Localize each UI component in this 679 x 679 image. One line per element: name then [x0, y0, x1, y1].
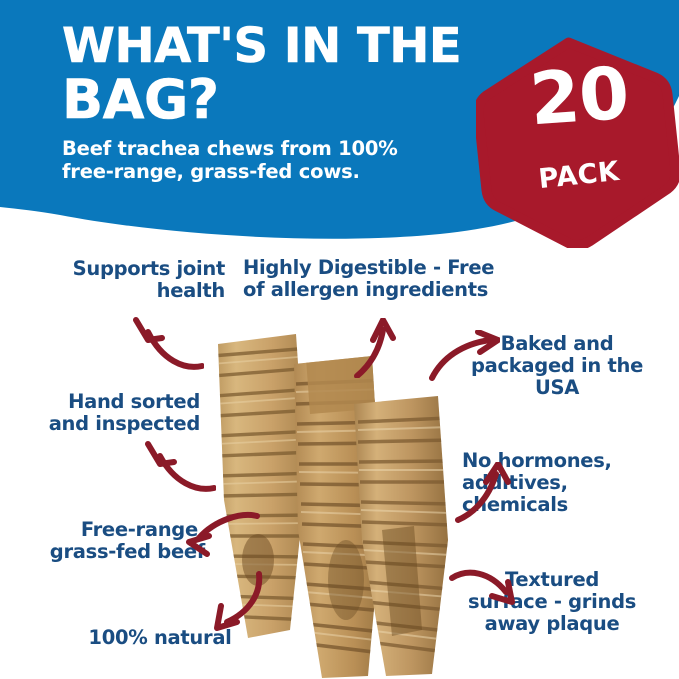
product-infographic: WHAT'S IN THE BAG? Beef trachea chews fr… [0, 0, 679, 679]
callout-line: Baked and [501, 332, 614, 355]
callout-line: away plaque [485, 612, 620, 635]
callout-line: health [157, 279, 225, 302]
header-text-block: WHAT'S IN THE BAG? Beef trachea chews fr… [62, 24, 482, 183]
callout-line: additives, [462, 471, 568, 494]
callout-line: 100% natural [88, 626, 231, 649]
callout-line: grass-fed beef [50, 540, 205, 563]
callout-line: USA [535, 376, 579, 399]
callout-line: surface - grinds [468, 590, 636, 613]
callout-line: Supports joint [73, 257, 225, 280]
callout-no-hormones-additives-chemicals: No hormones, additives, chemicals [462, 450, 662, 517]
callout-line: packaged in the [471, 354, 643, 377]
callout-highly-digestible: Highly Digestible - Free of allergen ing… [243, 257, 543, 301]
callout-100-percent-natural: 100% natural [60, 627, 260, 649]
callout-hand-sorted-inspected: Hand sorted and inspected [10, 391, 200, 435]
callout-line: Textured [505, 568, 599, 591]
callout-supports-joint-health: Supports joint health [20, 258, 225, 302]
pack-count-number: 20 [474, 53, 679, 139]
callout-line: No hormones, [462, 449, 612, 472]
page-title-line-2: BAG? [62, 74, 482, 125]
callout-line: chemicals [462, 493, 568, 516]
header-subtitle: Beef trachea chews from 100% free-range,… [62, 137, 482, 183]
callout-line: Highly Digestible - Free [243, 256, 494, 279]
header-subtitle-line-2: free-range, grass-fed cows. [62, 160, 360, 183]
callout-free-range-grass-fed-beef: Free-range, grass-fed beef [10, 519, 205, 563]
callout-textured-surface-grinds-plaque: Textured surface - grinds away plaque [442, 569, 662, 636]
callout-line: and inspected [49, 412, 200, 435]
callout-baked-packaged-usa: Baked and packaged in the USA [452, 333, 662, 400]
callout-line: Free-range, [81, 518, 205, 541]
header-subtitle-line-1: Beef trachea chews from 100% [62, 137, 398, 160]
callout-line: Hand sorted [68, 390, 200, 413]
page-title-line-1: WHAT'S IN THE [62, 24, 482, 70]
callout-line: of allergen ingredients [243, 278, 488, 301]
